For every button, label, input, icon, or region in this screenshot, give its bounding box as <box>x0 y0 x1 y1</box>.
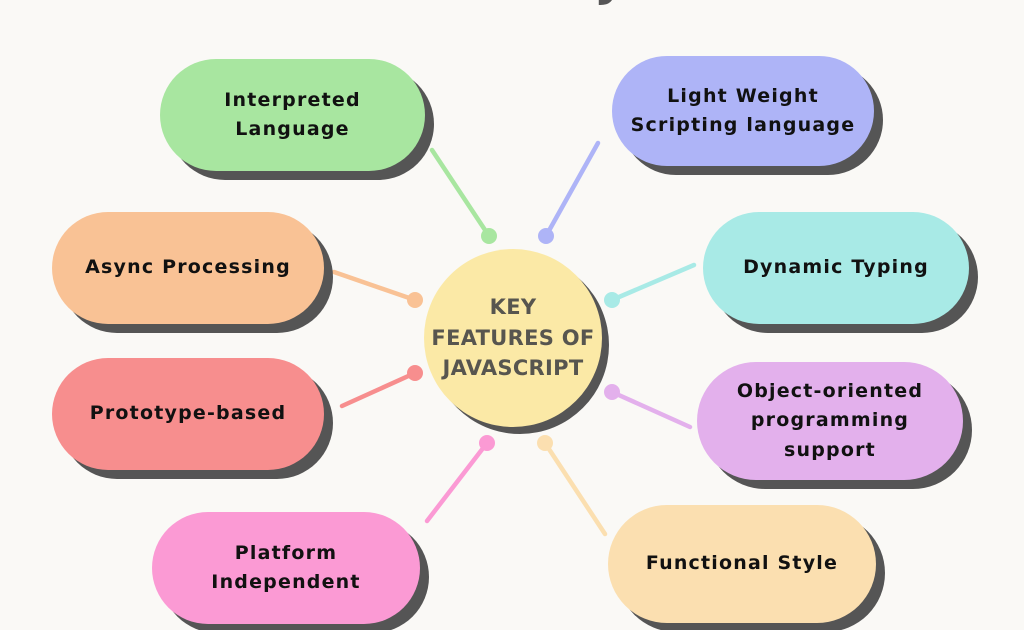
connector-dot-dynamic-typing <box>604 292 620 308</box>
connector-dot-object-oriented-programming-support <box>604 384 620 400</box>
connector-line-light-weight-scripting-language <box>546 143 598 236</box>
connector-dot-interpreted-language <box>481 228 497 244</box>
connector-dot-functional-style <box>537 435 553 451</box>
connector-line-dynamic-typing <box>612 265 694 300</box>
feature-node-label-interpreted-language: Interpreted Language <box>224 86 361 145</box>
connector-line-platform-independent <box>427 443 487 521</box>
connector-line-prototype-based <box>342 373 415 406</box>
feature-node-object-oriented-programming-support[interactable]: Object-oriented programming support <box>697 362 963 480</box>
center-hub-label: KEY FEATURES OF JAVASCRIPT <box>431 292 594 383</box>
feature-node-light-weight-scripting-language[interactable]: Light Weight Scripting language <box>612 56 874 166</box>
feature-node-platform-independent[interactable]: Platform Independent <box>152 512 420 624</box>
connector-dot-prototype-based <box>407 365 423 381</box>
feature-node-label-dynamic-typing: Dynamic Typing <box>743 253 929 282</box>
feature-node-label-platform-independent: Platform Independent <box>211 539 360 598</box>
connector-dot-async-processing <box>407 292 423 308</box>
feature-node-label-object-oriented-programming-support: Object-oriented programming support <box>737 377 923 465</box>
feature-node-label-light-weight-scripting-language: Light Weight Scripting language <box>631 82 856 141</box>
center-hub: KEY FEATURES OF JAVASCRIPT <box>424 249 602 427</box>
connector-line-interpreted-language <box>432 150 489 236</box>
feature-node-label-functional-style: Functional Style <box>646 549 838 578</box>
feature-node-dynamic-typing[interactable]: Dynamic Typing <box>703 212 969 324</box>
feature-node-label-async-processing: Async Processing <box>85 253 291 282</box>
connector-dot-platform-independent <box>479 435 495 451</box>
diagram-canvas: KEY FEATURES OF JAVASCRIPT Interpreted L… <box>0 0 1024 630</box>
connector-line-async-processing <box>334 272 415 300</box>
connector-line-functional-style <box>545 443 605 534</box>
feature-node-interpreted-language[interactable]: Interpreted Language <box>160 59 425 171</box>
connector-line-object-oriented-programming-support <box>612 392 690 427</box>
feature-node-functional-style[interactable]: Functional Style <box>608 505 876 623</box>
feature-node-label-prototype-based: Prototype-based <box>90 399 287 428</box>
connector-dot-light-weight-scripting-language <box>538 228 554 244</box>
feature-node-async-processing[interactable]: Async Processing <box>52 212 324 324</box>
feature-node-prototype-based[interactable]: Prototype-based <box>52 358 324 470</box>
